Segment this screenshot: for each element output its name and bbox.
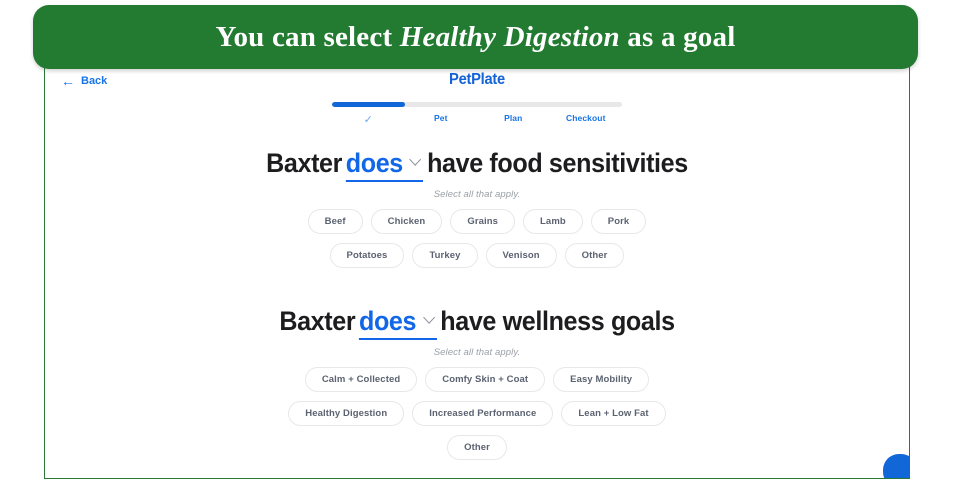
food-option-grains[interactable]: Grains <box>450 209 515 234</box>
goal-option-increased-performance[interactable]: Increased Performance <box>412 401 553 426</box>
goal-option-comfy-skin-coat[interactable]: Comfy Skin + Coat <box>425 367 545 392</box>
food-affirmative-value: does <box>346 148 424 182</box>
banner-text-after: as a goal <box>620 21 736 53</box>
progress-fill <box>332 102 405 107</box>
food-sensitivities-heading: Baxterdoeshave food sensitivities <box>75 148 879 182</box>
goals-options-row-1: Calm + Collected Comfy Skin + Coat Easy … <box>45 367 909 392</box>
stepper-step-plan[interactable]: Plan <box>477 113 550 126</box>
food-option-chicken[interactable]: Chicken <box>371 209 443 234</box>
webpage-viewport: ← Back PetPlate ✓ Pet Plan Checkout Baxt… <box>44 62 910 479</box>
food-affirmative-dropdown[interactable]: does <box>346 148 424 182</box>
goals-options-row-3: Other <box>45 435 909 460</box>
stepper-step-pet[interactable]: Pet <box>405 113 478 126</box>
goal-option-calm-collected[interactable]: Calm + Collected <box>305 367 417 392</box>
food-subtitle: Select all that apply. <box>45 189 909 200</box>
goal-option-healthy-digestion[interactable]: Healthy Digestion <box>288 401 404 426</box>
stepper-step-checkout[interactable]: Checkout <box>550 113 623 126</box>
wellness-goals-section: Baxterdoeshave wellness goals Select all… <box>45 306 909 460</box>
banner-text-before: You can select <box>216 21 400 53</box>
food-option-lamb[interactable]: Lamb <box>523 209 583 234</box>
food-option-pork[interactable]: Pork <box>591 209 647 234</box>
food-options-row-2: Potatoes Turkey Venison Other <box>45 243 909 268</box>
food-sensitivities-section: Baxterdoeshave food sensitivities Select… <box>45 148 909 268</box>
goal-option-other[interactable]: Other <box>447 435 507 460</box>
food-option-beef[interactable]: Beef <box>308 209 363 234</box>
stepper-labels: ✓ Pet Plan Checkout <box>332 113 622 126</box>
wellness-goals-options-group: Calm + Collected Comfy Skin + Coat Easy … <box>45 367 909 460</box>
goals-affirmative-dropdown[interactable]: does <box>359 306 437 340</box>
goals-heading-suffix: have wellness goals <box>440 306 674 336</box>
goals-heading-pet-name: Baxter <box>279 306 355 336</box>
food-option-turkey[interactable]: Turkey <box>412 243 477 268</box>
annotation-banner: You can select Healthy Digestion as a go… <box>33 5 918 69</box>
goals-affirmative-value: does <box>359 306 437 340</box>
arrow-left-icon: ← <box>61 74 75 88</box>
banner-text-emphasis: Healthy Digestion <box>400 21 620 53</box>
food-options-group: Beef Chicken Grains Lamb Pork Potatoes T… <box>45 209 909 268</box>
stepper-step-completed-check[interactable]: ✓ <box>332 113 405 126</box>
food-option-potatoes[interactable]: Potatoes <box>330 243 405 268</box>
goals-subtitle: Select all that apply. <box>45 347 909 358</box>
progress-track <box>332 102 622 107</box>
food-option-other[interactable]: Other <box>565 243 625 268</box>
wellness-goals-heading: Baxterdoeshave wellness goals <box>75 306 879 340</box>
chat-widget-button[interactable] <box>883 454 910 479</box>
goal-option-lean-low-fat[interactable]: Lean + Low Fat <box>561 401 665 426</box>
checkout-progress-stepper: ✓ Pet Plan Checkout <box>332 102 622 126</box>
annotation-banner-text: You can select Healthy Digestion as a go… <box>216 21 736 54</box>
food-heading-suffix: have food sensitivities <box>427 148 688 178</box>
food-option-venison[interactable]: Venison <box>486 243 557 268</box>
goals-options-row-2: Healthy Digestion Increased Performance … <box>45 401 909 426</box>
food-options-row-1: Beef Chicken Grains Lamb Pork <box>45 209 909 234</box>
goal-option-easy-mobility[interactable]: Easy Mobility <box>553 367 649 392</box>
petplate-logo[interactable]: PetPlate <box>80 71 875 89</box>
food-heading-pet-name: Baxter <box>266 148 342 178</box>
